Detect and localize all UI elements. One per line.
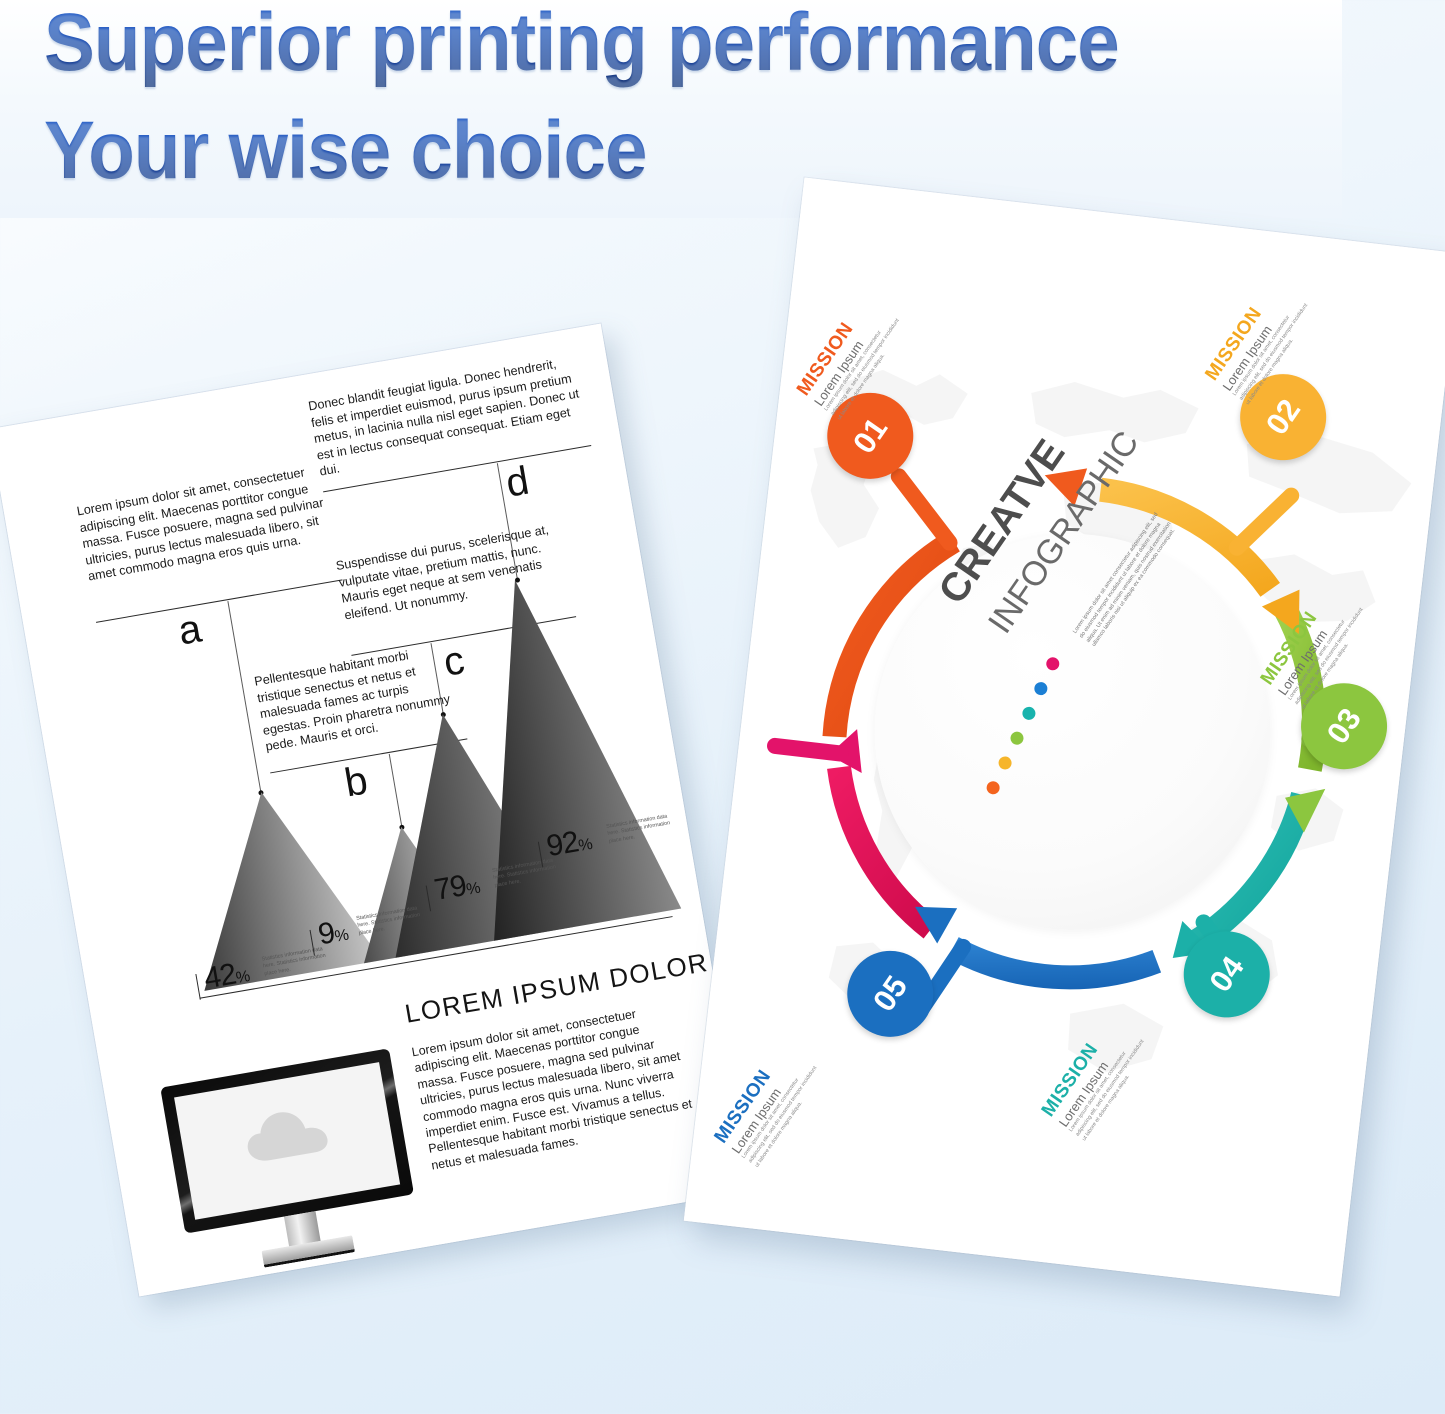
chart-value-a-number: 42 [202,958,239,996]
page-left-content: Lorem ipsum dolor sit amet, consectetuer… [0,324,750,1297]
step-badge-02-label: 02 [1259,393,1308,442]
headline-line-1: Superior printing performance [44,0,1119,90]
chart-value-d-unit: % [577,836,593,855]
printed-page-infographic: CREATVE INFOGRAPHIC Lorem ipsum dolor si… [684,178,1445,1297]
chart-value-b-unit: % [333,927,349,946]
callout-letter-d: d [503,461,532,504]
step-badge-01-label: 01 [846,411,895,460]
chart-value-a-unit: % [235,968,251,987]
chart-value-b: 9% [316,914,350,952]
step-badge-03-label: 03 [1319,702,1368,751]
printed-page-statistics: Lorem ipsum dolor sit amet, consectetuer… [0,324,750,1297]
step-badge-04-label: 04 [1202,950,1251,999]
chart-triangles [83,524,683,1010]
promo-image: Superior printing performance Your wise … [0,0,1445,1414]
chart-value-d-number: 92 [544,825,581,863]
step-badge-05-label: 05 [866,969,915,1018]
paragraph-top-right: Donec blandit feugiat ligula. Donec hend… [307,352,589,480]
paragraph-top-left: Lorem ipsum dolor sit amet, consectetuer… [76,461,336,585]
headline-line-2: Your wise choice [44,104,646,198]
page-right-content: CREATVE INFOGRAPHIC Lorem ipsum dolor si… [684,178,1445,1297]
chart-value-c-unit: % [465,880,481,899]
chart-value-c-number: 79 [432,869,469,907]
paragraph-bottom: Lorem ipsum dolor sit amet, consectetuer… [411,999,697,1174]
